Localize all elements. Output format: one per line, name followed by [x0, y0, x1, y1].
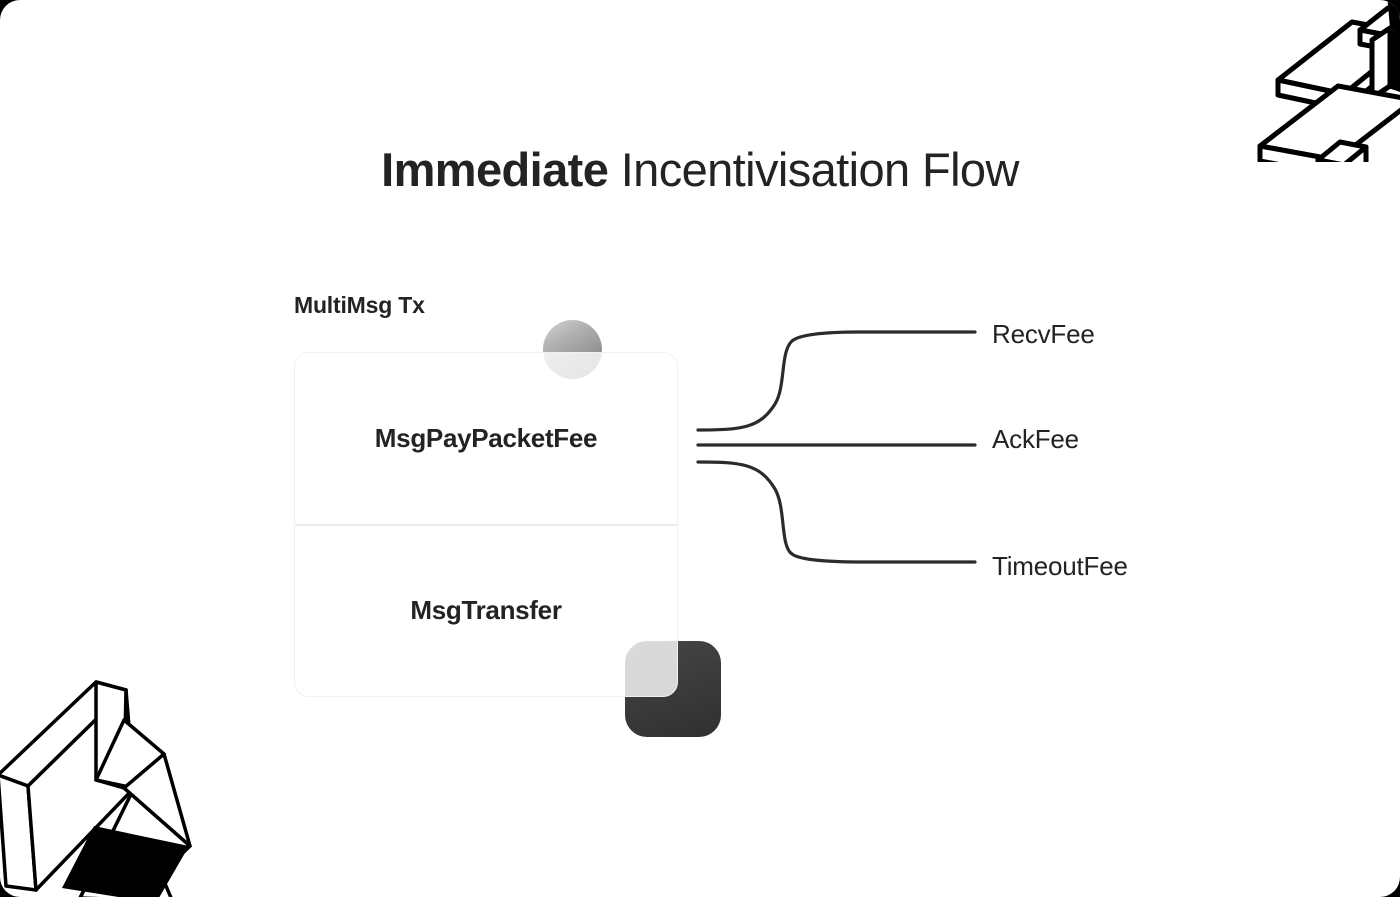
multimsg-tx-card: MsgPayPacketFee MsgTransfer	[294, 352, 678, 697]
slide-root: Immediate Incentivisation Flow MultiMsg …	[0, 0, 1400, 897]
connector-recvfee	[698, 332, 975, 430]
message-label: MsgPayPacketFee	[375, 423, 597, 454]
page-title-rest: Incentivisation Flow	[608, 143, 1019, 196]
page-title: Immediate Incentivisation Flow	[0, 139, 1400, 201]
message-row-transfer[interactable]: MsgTransfer	[295, 524, 677, 697]
message-row-paypacketfee[interactable]: MsgPayPacketFee	[295, 353, 677, 524]
fee-connector-lines	[0, 0, 1400, 897]
fee-label-timeoutfee: TimeoutFee	[992, 551, 1128, 582]
fee-label-recvfee: RecvFee	[992, 319, 1095, 350]
message-label: MsgTransfer	[410, 595, 561, 626]
isometric-blocks-icon-bottom-left	[0, 660, 214, 897]
fee-label-ackfee: AckFee	[992, 424, 1079, 455]
connector-timeoutfee	[698, 462, 975, 562]
multimsg-tx-label: MultiMsg Tx	[294, 292, 425, 319]
page-title-strong: Immediate	[381, 143, 608, 196]
